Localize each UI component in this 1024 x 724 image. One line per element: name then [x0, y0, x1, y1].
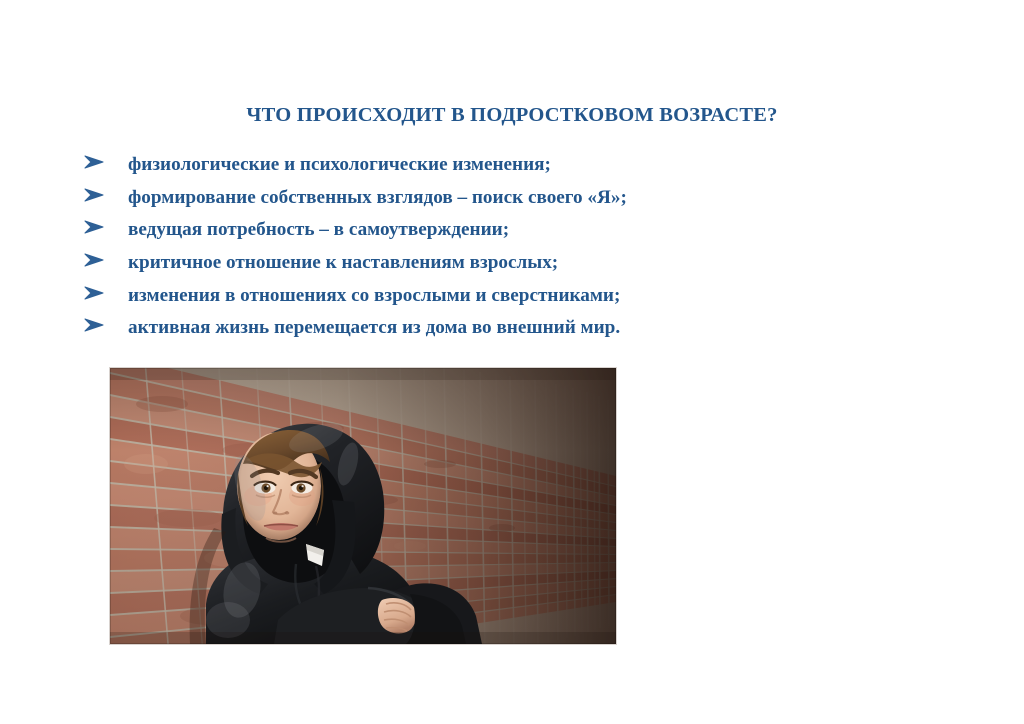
arrowhead-bullet-icon [84, 210, 128, 234]
list-item: изменения в отношениях со взрослыми и св… [84, 277, 884, 310]
arrowhead-bullet-icon [84, 276, 128, 300]
list-item: активная жизнь перемещается из дома во в… [84, 309, 884, 342]
list-item-label: активная жизнь перемещается из дома во в… [128, 312, 884, 345]
photo-illustration [110, 368, 616, 644]
list-item-label: критичное отношение к наставлениям взрос… [128, 247, 884, 280]
teen-boy-hoodie-brick-wall-photo [110, 368, 616, 644]
bullet-list: физиологические и психологические измене… [84, 146, 884, 342]
list-item: критичное отношение к наставлениям взрос… [84, 244, 884, 277]
arrowhead-bullet-icon [84, 145, 128, 169]
list-item-label: ведущая потребность – в самоутверждении; [128, 214, 884, 247]
list-item-label: физиологические и психологические измене… [128, 149, 884, 182]
arrowhead-bullet-icon [84, 178, 128, 202]
arrowhead-bullet-icon [84, 243, 128, 267]
list-item: ведущая потребность – в самоутверждении; [84, 211, 884, 244]
list-item-label: изменения в отношениях со взрослыми и св… [128, 280, 884, 313]
slide-canvas: ЧТО ПРОИСХОДИТ В ПОДРОСТКОВОМ ВОЗРАСТЕ? … [0, 0, 1024, 724]
list-item: формирование собственных взглядов – поис… [84, 179, 884, 212]
page-title: ЧТО ПРОИСХОДИТ В ПОДРОСТКОВОМ ВОЗРАСТЕ? [0, 104, 1024, 127]
list-item: физиологические и психологические измене… [84, 146, 884, 179]
arrowhead-bullet-icon [84, 308, 128, 332]
list-item-label: формирование собственных взглядов – поис… [128, 182, 884, 215]
